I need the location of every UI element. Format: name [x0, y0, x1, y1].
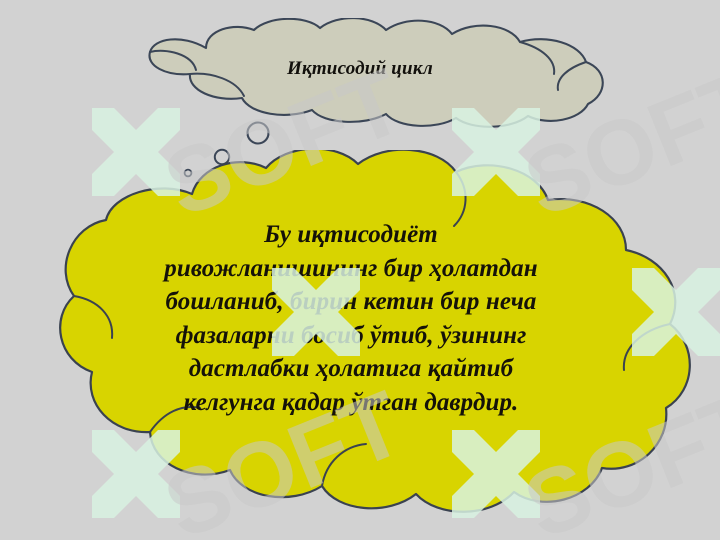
body-line: дастлабки ҳолатига қайтиб — [96, 352, 606, 386]
body-paragraph: Бу иқтисодиёт ривожланишининг бир ҳолатд… — [96, 218, 606, 419]
body-line: келгунга қадар ўтган даврдир. — [96, 386, 606, 420]
body-line: ривожланишининг бир ҳолатдан — [96, 252, 606, 286]
body-line: фазаларни босиб ўтиб, ўзининг — [96, 319, 606, 353]
body-line: Бу иқтисодиёт — [96, 218, 606, 252]
body-line: бошланиб, бирин кетин бир неча — [96, 285, 606, 319]
page-title: Иқтисодий цикл — [150, 58, 570, 80]
thought-bubble-large — [248, 123, 269, 144]
slide-canvas: Иқтисодий цикл Бу иқтисодиёт ривожланиши… — [0, 0, 720, 540]
